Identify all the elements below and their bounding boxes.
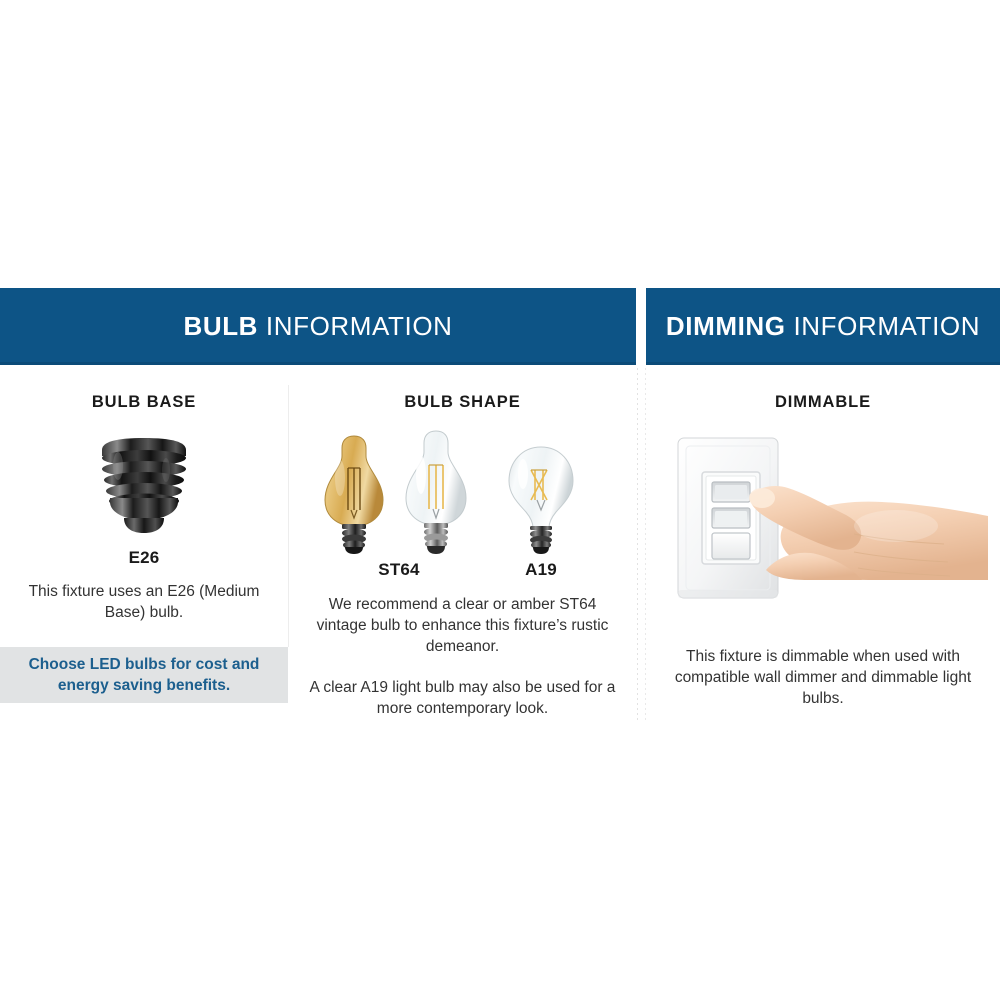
e26-bulb-base-photo — [96, 436, 192, 534]
dimmable-column: DIMMABLE — [646, 365, 1000, 709]
bulb-shape-column: BULB SHAPE — [289, 365, 636, 719]
panel-divider-left — [637, 368, 638, 720]
bulb-information-title-bold: BULB — [183, 311, 258, 341]
bulb-information-title-spacer — [258, 311, 266, 341]
bulb-shape-description-secondary: A clear A19 light bulb may also be used … — [289, 677, 636, 719]
bulb-shape-illustration-group — [289, 429, 636, 554]
bulb-information-header-band: BULB INFORMATION — [0, 288, 636, 365]
bulb-information-title: BULB INFORMATION — [183, 311, 452, 342]
bulb-shape-description-primary: We recommend a clear or amber ST64 vinta… — [289, 594, 636, 657]
st64-label: ST64 — [354, 560, 444, 580]
dimmable-description: This fixture is dimmable when used with … — [646, 646, 1000, 709]
dimming-information-title-light: INFORMATION — [793, 311, 980, 341]
led-callout-box: Choose LED bulbs for cost and energy sav… — [0, 647, 288, 703]
bulb-shape-labels: ST64 A19 — [289, 560, 636, 584]
bulb-base-title: BULB BASE — [0, 393, 288, 412]
bulb-base-description: This fixture uses an E26 (Medium Base) b… — [0, 581, 288, 623]
bulb-shape-title: BULB SHAPE — [289, 393, 636, 412]
dimming-information-title-bold: DIMMING — [666, 311, 786, 341]
e26-base-illustration — [0, 430, 288, 542]
dimmable-title: DIMMABLE — [646, 393, 1000, 412]
a19-label: A19 — [496, 560, 586, 580]
dimmer-illustration — [646, 430, 1000, 630]
dimming-information-panel: DIMMABLE — [646, 365, 1000, 725]
st64-amber-bulb-photo — [317, 434, 391, 554]
st64-clear-bulb-photo — [397, 429, 475, 554]
dimming-information-title: DIMMING INFORMATION — [666, 311, 980, 342]
bulb-and-dimming-infographic: BULB INFORMATION DIMMING INFORMATION BUL… — [0, 0, 1000, 1000]
dimming-information-header-band: DIMMING INFORMATION — [646, 288, 1000, 365]
hand-pressing-wall-dimmer-photo — [658, 430, 988, 630]
bulb-base-column: BULB BASE — [0, 365, 288, 623]
led-callout-text: Choose LED bulbs for cost and energy sav… — [0, 654, 288, 696]
bulb-information-title-light: INFORMATION — [266, 311, 453, 341]
a19-clear-bulb-photo — [501, 444, 581, 554]
e26-spec-label: E26 — [0, 548, 288, 568]
